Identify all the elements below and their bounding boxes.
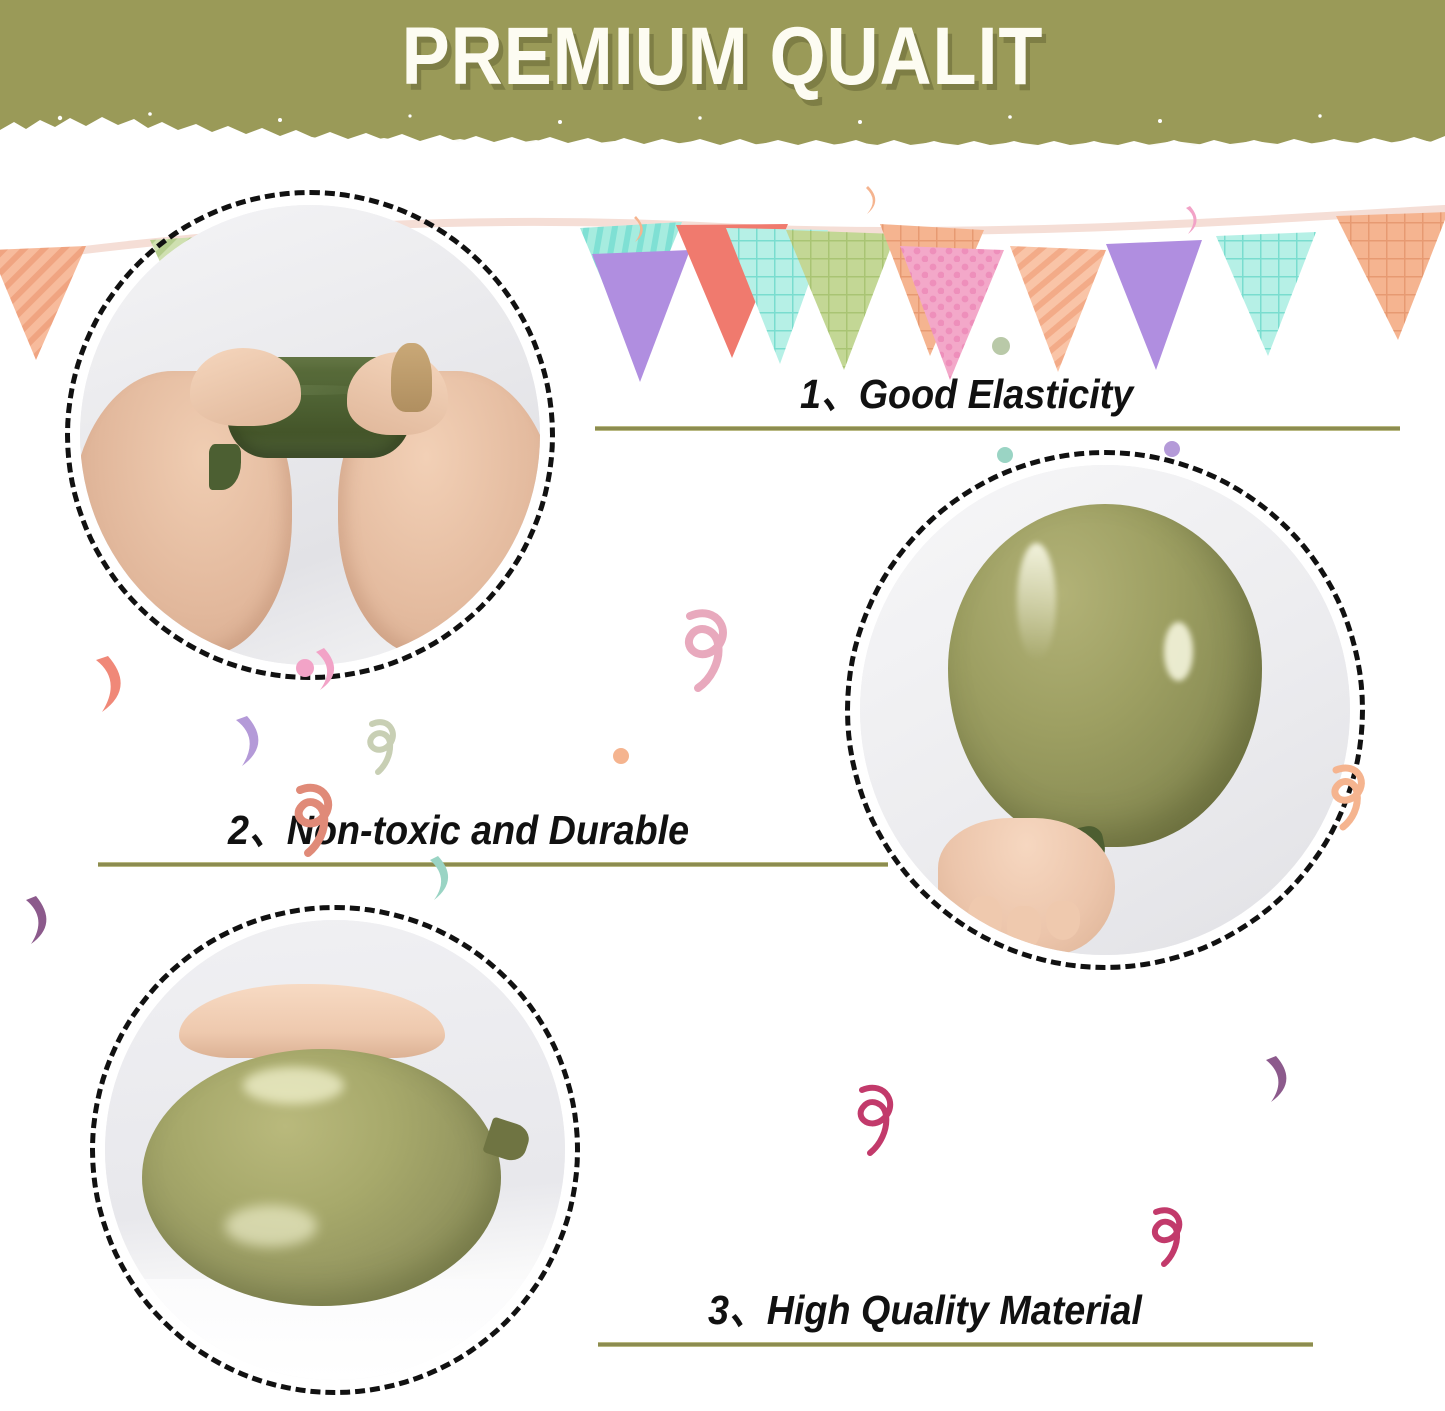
spiral-confetti-icon	[689, 613, 723, 688]
spiral-confetti-icon	[299, 788, 329, 853]
spiral-confetti-icon	[861, 1088, 891, 1153]
dot-confetti-icon	[1164, 441, 1180, 457]
crescent-confetti-icon	[1266, 1056, 1286, 1102]
dot-confetti-icon	[992, 337, 1010, 355]
crescent-confetti-icon	[430, 856, 448, 900]
crescent-confetti-icon	[26, 896, 46, 944]
crescent-confetti-icon	[236, 716, 258, 766]
product-infographic-page: PREMIUM QUALIT	[0, 0, 1445, 1411]
crescent-confetti-icon	[96, 656, 121, 712]
crescent-confetti-icon	[316, 648, 334, 690]
dot-confetti-icon	[613, 748, 629, 764]
dot-confetti-icon	[997, 447, 1013, 463]
dot-confetti-icon	[296, 659, 314, 677]
confetti-layer	[0, 0, 1445, 1411]
spiral-confetti-icon	[1155, 1210, 1179, 1264]
spiral-confetti-icon	[370, 722, 393, 772]
spiral-confetti-icon	[1335, 768, 1361, 827]
